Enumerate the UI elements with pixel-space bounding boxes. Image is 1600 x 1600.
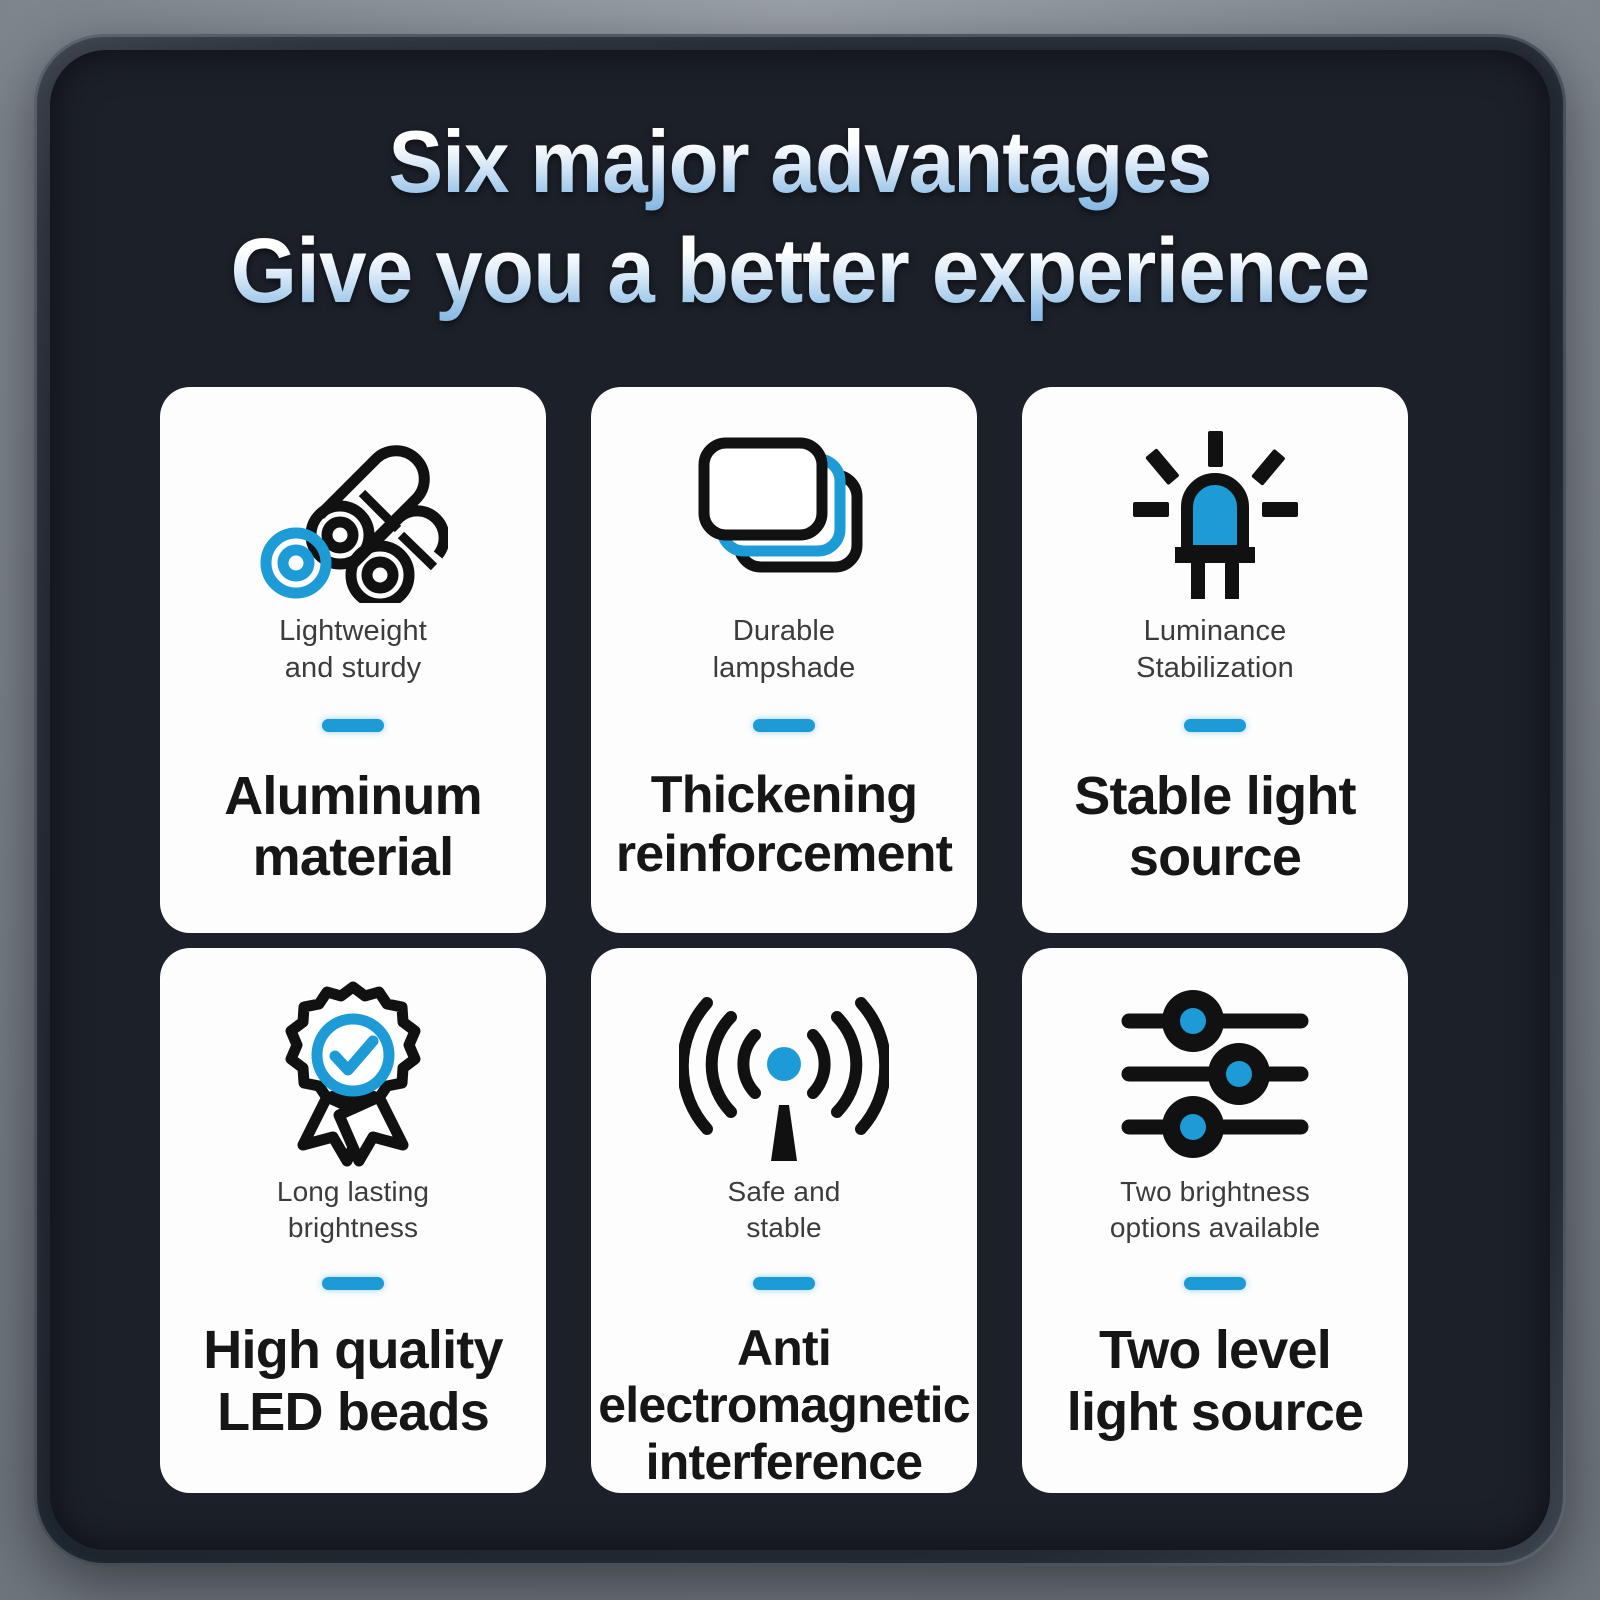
advantages-grid: Lightweight and sturdy Aluminum material <box>160 387 1410 1493</box>
advantage-card-two-level-light-source[interactable]: Two brightness options available Two lev… <box>1022 948 1408 1493</box>
aluminum-tubes-icon <box>160 413 546 613</box>
stacked-panels-icon <box>591 413 977 613</box>
card-heading: Two level light source <box>1061 1320 1369 1443</box>
card-heading: Anti electromagnetic interference <box>592 1320 975 1491</box>
quality-badge-icon <box>160 974 546 1174</box>
card-heading-line-1: High quality <box>203 1320 502 1382</box>
card-subtitle-line-2: and sturdy <box>279 650 427 687</box>
card-heading: Thickening reinforcement <box>610 766 958 885</box>
advantage-card-stable-light-source[interactable]: Luminance Stabilization Stable light sou… <box>1022 387 1408 933</box>
card-divider <box>1184 719 1246 732</box>
title-line-1: Six major advantages <box>56 108 1544 215</box>
brightness-sliders-icon <box>1022 974 1408 1174</box>
card-heading-line-1: Stable light <box>1074 766 1355 828</box>
card-subtitle-line-2: options available <box>1110 1210 1320 1246</box>
card-heading-line-2: light source <box>1067 1382 1363 1444</box>
card-subtitle: Luminance Stabilization <box>1120 613 1310 687</box>
card-divider <box>753 1277 815 1290</box>
card-subtitle: Durable lampshade <box>697 613 872 687</box>
card-subtitle: Safe and stable <box>712 1174 857 1245</box>
card-heading-line-2: LED beads <box>203 1382 502 1444</box>
card-subtitle-line-2: brightness <box>277 1210 429 1246</box>
card-heading-line-1: Anti <box>598 1320 969 1377</box>
card-heading: Stable light source <box>1068 766 1361 889</box>
card-subtitle-line-1: Safe and <box>728 1174 841 1210</box>
card-subtitle-line-1: Durable <box>713 613 856 650</box>
card-subtitle-line-1: Two brightness <box>1110 1174 1320 1210</box>
advantage-card-aluminum-material[interactable]: Lightweight and sturdy Aluminum material <box>160 387 546 933</box>
card-heading-line-2: material <box>224 827 482 889</box>
title-line-2: Give you a better experience <box>56 215 1544 327</box>
card-subtitle-line-2: lampshade <box>713 650 856 687</box>
card-heading: High quality LED beads <box>197 1320 508 1443</box>
card-heading-line-2: reinforcement <box>616 825 952 884</box>
card-heading-line-3: interference <box>598 1434 969 1491</box>
card-heading-line-1: Two level <box>1067 1320 1363 1382</box>
card-subtitle-line-2: Stabilization <box>1136 650 1294 687</box>
advantage-card-high-quality-led-beads[interactable]: Long lasting brightness High quality LED… <box>160 948 546 1493</box>
card-heading-line-2: source <box>1074 827 1355 889</box>
card-heading-line-1: Thickening <box>616 766 952 825</box>
card-subtitle-line-1: Lightweight <box>279 613 427 650</box>
card-subtitle-line-1: Luminance <box>1136 613 1294 650</box>
card-subtitle: Long lasting brightness <box>261 1174 445 1245</box>
led-bulb-icon <box>1022 413 1408 613</box>
card-divider <box>322 1277 384 1290</box>
card-subtitle: Lightweight and sturdy <box>263 613 443 687</box>
card-divider <box>1184 1277 1246 1290</box>
card-subtitle: Two brightness options available <box>1094 1174 1336 1245</box>
card-divider <box>322 719 384 732</box>
advantage-card-anti-electromagnetic-interference[interactable]: Safe and stable Anti electromagnetic int… <box>591 948 977 1493</box>
signal-tower-icon <box>591 974 977 1174</box>
card-subtitle-line-2: stable <box>728 1210 841 1246</box>
advantage-card-thickening-reinforcement[interactable]: Durable lampshade Thickening reinforceme… <box>591 387 977 933</box>
card-heading: Aluminum material <box>218 766 488 889</box>
page-title: Six major advantages Give you a better e… <box>0 108 1600 328</box>
card-subtitle-line-1: Long lasting <box>277 1174 429 1210</box>
card-divider <box>753 719 815 732</box>
card-heading-line-2: electromagnetic <box>598 1377 969 1434</box>
card-heading-line-1: Aluminum <box>224 766 482 828</box>
